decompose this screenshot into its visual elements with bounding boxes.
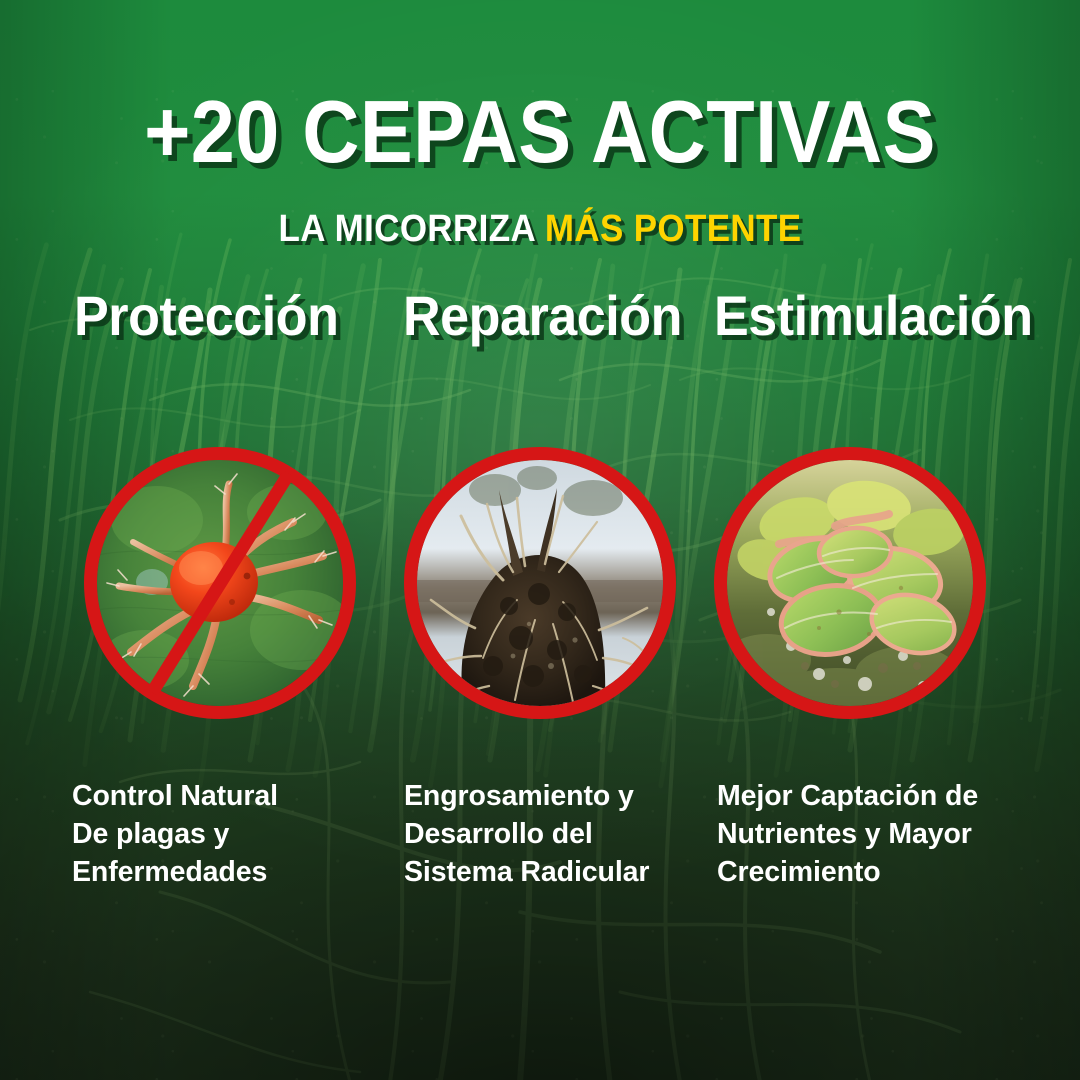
column-heading: Protección [74, 288, 390, 344]
caption-line: Engrosamiento y [404, 778, 704, 816]
benefit-column-reparacion: Reparación [393, 0, 723, 1080]
caption-line: De plagas y [72, 816, 392, 854]
benefit-image-circle [84, 447, 356, 719]
benefit-caption: Mejor Captación de Nutrientes y Mayor Cr… [717, 778, 1037, 892]
benefit-column-proteccion: Protección [60, 0, 390, 1080]
benefit-image-circle [404, 447, 676, 719]
benefit-caption: Control Natural De plagas y Enfermedades [72, 778, 392, 892]
benefit-caption: Engrosamiento y Desarrollo del Sistema R… [404, 778, 704, 892]
caption-line: Sistema Radicular [404, 854, 704, 892]
caption-line: Desarrollo del [404, 816, 704, 854]
red-ring [404, 447, 676, 719]
benefit-column-estimulacion: Estimulación [708, 0, 1038, 1080]
caption-line: Mejor Captación de [717, 778, 1037, 816]
benefit-columns: Protección [0, 0, 1080, 1080]
caption-line: Crecimiento [717, 854, 1037, 892]
red-ring [714, 447, 986, 719]
benefit-image-circle [714, 447, 986, 719]
column-heading: Reparación [403, 288, 719, 344]
caption-line: Enfermedades [72, 854, 392, 892]
column-heading: Estimulación [714, 288, 1030, 344]
caption-line: Nutrientes y Mayor [717, 816, 1037, 854]
promotional-poster: +20 CEPAS ACTIVAS LA MICORRIZA MÁS POTEN… [0, 0, 1080, 1080]
caption-line: Control Natural [72, 778, 392, 816]
